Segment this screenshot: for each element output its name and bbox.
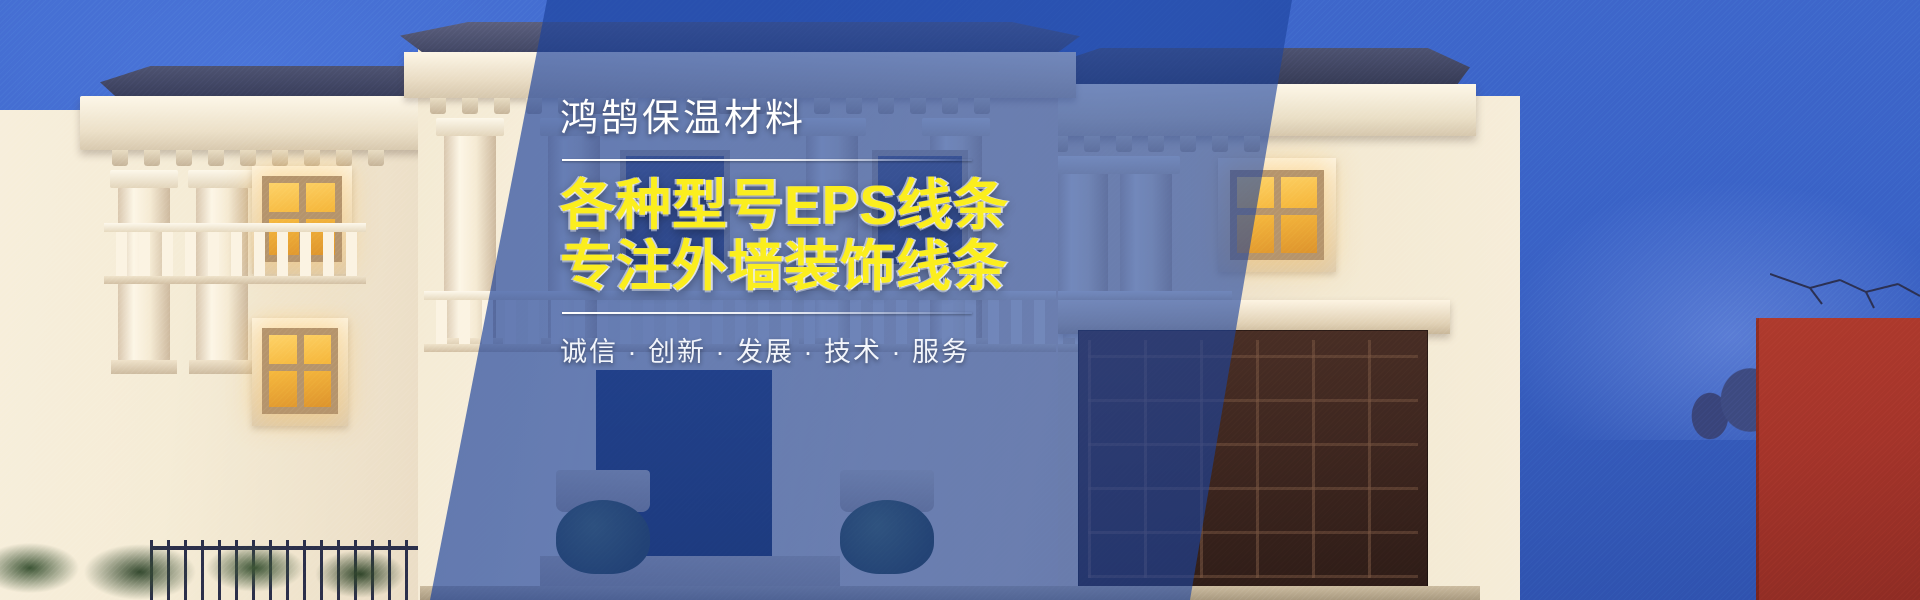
- tagline: 诚信 · 创新 · 发展 · 技术 · 服务: [560, 330, 1260, 369]
- hedge: [0, 528, 430, 600]
- left-wing-cornice: [80, 96, 470, 150]
- lit-window: [262, 328, 338, 414]
- headline-line-1: 各种型号EPS线条: [560, 175, 1260, 237]
- brand-name: 鸿鹄保温材料: [560, 96, 1260, 144]
- divider-top: [562, 159, 972, 161]
- hero-copy: 鸿鹄保温材料 各种型号EPS线条 专注外墙装饰线条 诚信 · 创新 · 发展 ·…: [560, 96, 1260, 369]
- left-wing-dentils: [112, 150, 412, 166]
- banner-hero: 鸿鹄保温材料 各种型号EPS线条 专注外墙装饰线条 诚信 · 创新 · 发展 ·…: [0, 0, 1920, 600]
- balustrade: [110, 232, 360, 276]
- headline-line-2: 专注外墙装饰线条: [560, 236, 1260, 298]
- headline: 各种型号EPS线条 专注外墙装饰线条: [560, 175, 1260, 298]
- divider-bottom: [562, 312, 972, 314]
